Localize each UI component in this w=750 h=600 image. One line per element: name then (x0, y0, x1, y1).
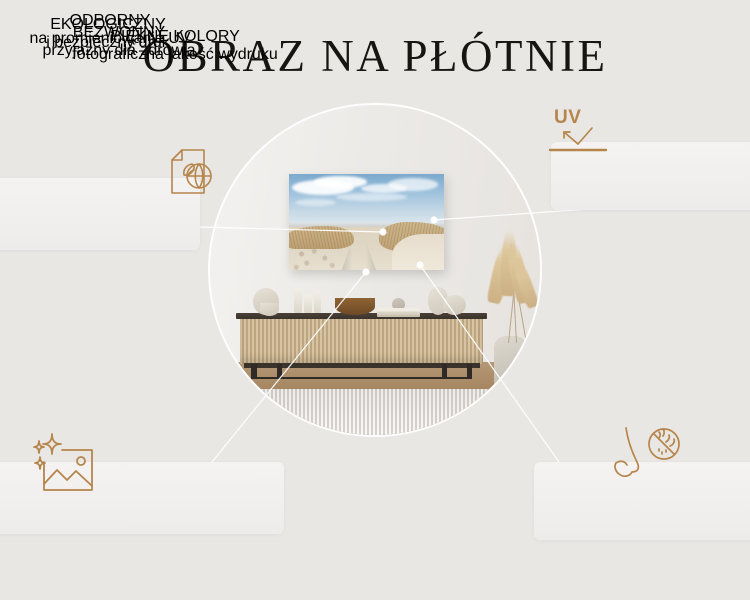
dune-grass-left (289, 226, 354, 249)
feature-text-bezwonny: BEZWONNY przyjazny dla zdrowia (14, 24, 224, 60)
sideboard-leg (442, 364, 448, 379)
cloud (314, 176, 367, 187)
sideboard-fluted-body (240, 319, 483, 364)
canvas-artwork (289, 174, 444, 270)
candle (314, 291, 321, 312)
product-scene-circle (210, 105, 540, 435)
feature-subtext: przyjazny dla zdrowia (14, 42, 224, 60)
stacked-books (377, 308, 420, 317)
sideboard-leg (467, 364, 473, 379)
cloud (388, 178, 438, 190)
round-vase (443, 295, 466, 315)
sideboard (236, 313, 487, 379)
footprints (292, 247, 345, 270)
document-globe-leaf-icon (158, 143, 222, 207)
nose-no-smell-icon (604, 422, 686, 492)
wooden-bowl (335, 298, 375, 315)
promo-graphic: OBRAZ NA PŁÓTNIE (0, 0, 750, 600)
sideboard-leg-bar (251, 377, 472, 379)
uv-reflect-arrow-icon (548, 124, 618, 156)
interior-scene (210, 105, 540, 435)
candle (294, 288, 302, 313)
candle (304, 295, 312, 313)
sideboard-leg (251, 364, 257, 379)
sideboard-leg (277, 364, 283, 379)
cloud (336, 193, 407, 201)
cloud (295, 199, 335, 206)
rug-shadow (210, 389, 540, 435)
photo-sparkle-icon (26, 428, 104, 506)
feature-heading: BEZWONNY (14, 24, 224, 42)
